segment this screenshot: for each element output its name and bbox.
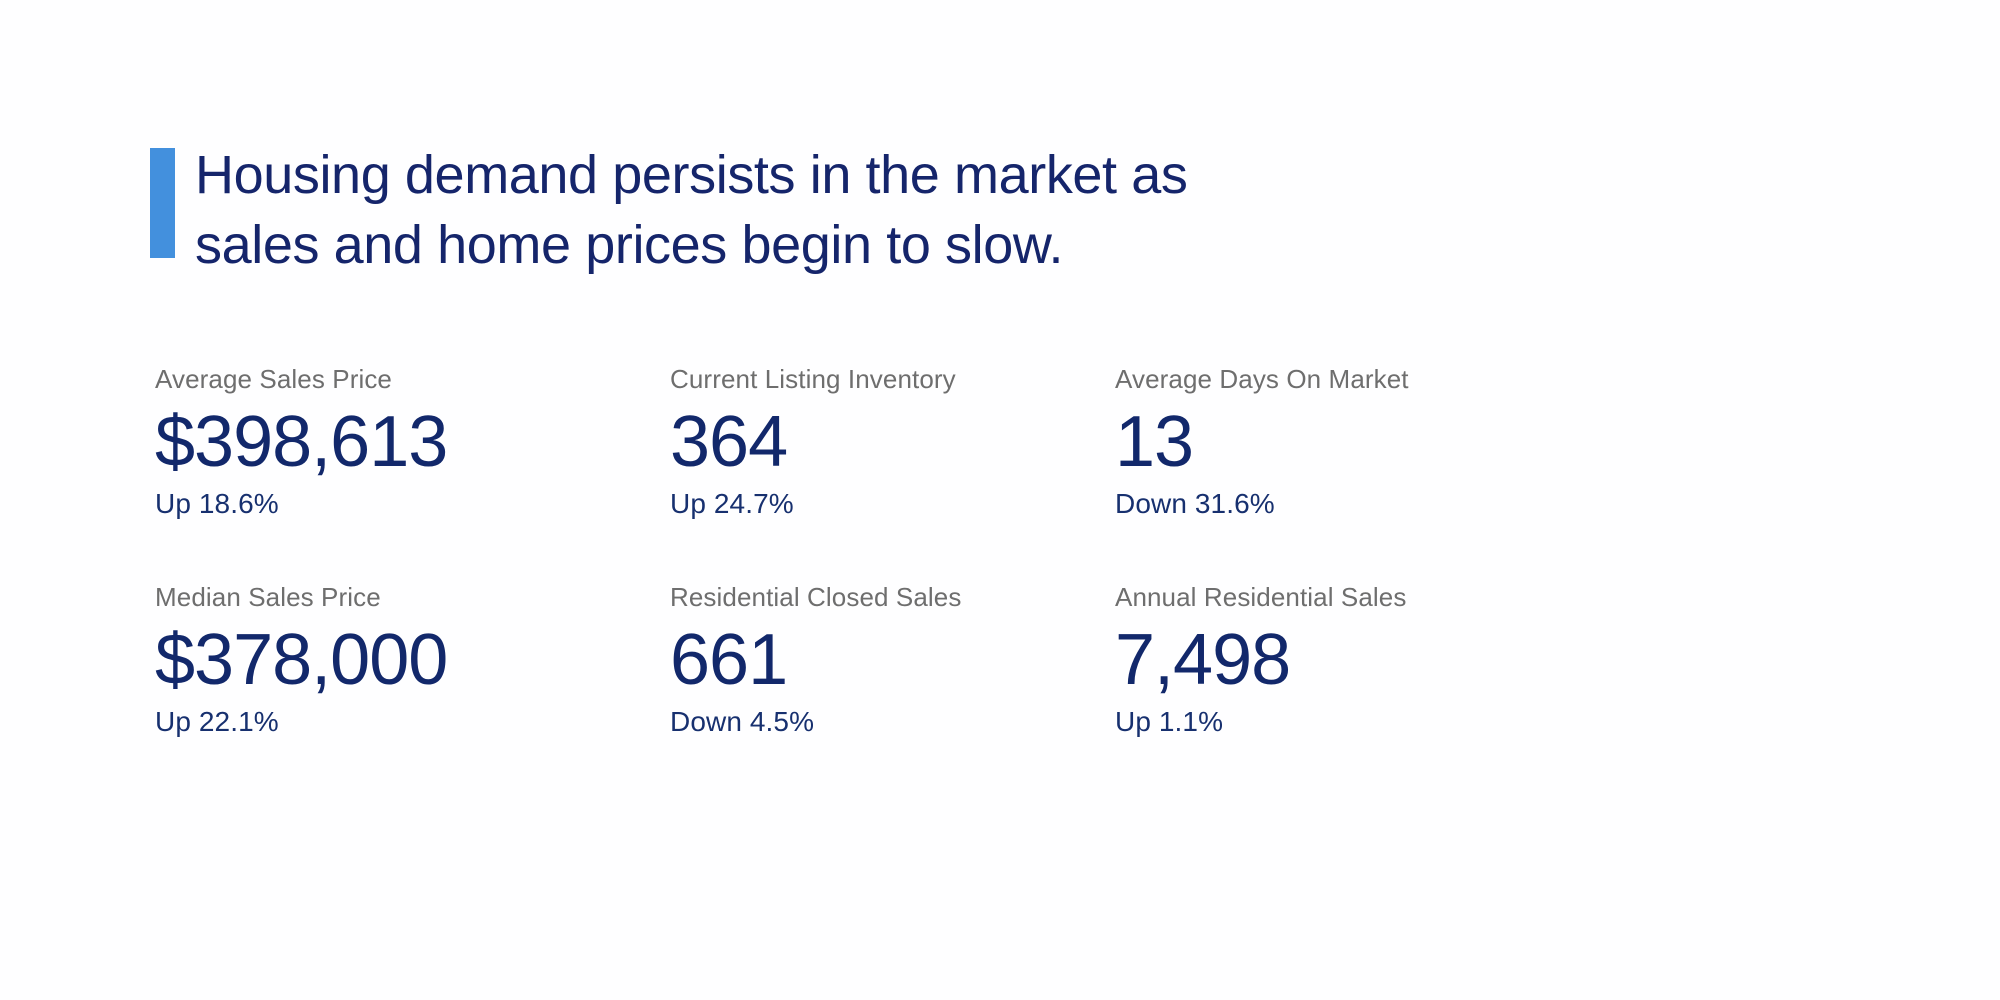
headline-title: Housing demand persists in the market as… [195,140,1188,280]
stat-card-average-sales-price: Average Sales Price $398,613 Up 18.6% [155,365,670,519]
stat-change: Up 1.1% [1115,707,1560,738]
stat-card-residential-closed-sales: Residential Closed Sales 661 Down 4.5% [670,583,1115,737]
stat-card-current-listing-inventory: Current Listing Inventory 364 Up 24.7% [670,365,1115,519]
accent-bar [150,148,175,258]
stat-change: Up 22.1% [155,707,670,738]
headline-block: Housing demand persists in the market as… [150,140,1188,280]
stat-label: Average Days On Market [1115,365,1560,394]
stat-label: Residential Closed Sales [670,583,1115,612]
stat-change: Down 31.6% [1115,489,1560,520]
stat-value: 364 [670,400,1115,485]
stat-label: Annual Residential Sales [1115,583,1560,612]
stats-grid: Average Sales Price $398,613 Up 18.6% Cu… [155,365,1605,738]
stat-card-median-sales-price: Median Sales Price $378,000 Up 22.1% [155,583,670,737]
stat-change: Down 4.5% [670,707,1115,738]
stat-label: Average Sales Price [155,365,670,394]
stat-change: Up 18.6% [155,489,670,520]
stat-label: Current Listing Inventory [670,365,1115,394]
stat-value: $378,000 [155,618,670,703]
stat-change: Up 24.7% [670,489,1115,520]
stat-value: 661 [670,618,1115,703]
stat-value: 7,498 [1115,618,1560,703]
infographic-canvas: Housing demand persists in the market as… [0,0,2000,1000]
stat-label: Median Sales Price [155,583,670,612]
stat-card-average-days-on-market: Average Days On Market 13 Down 31.6% [1115,365,1560,519]
stat-card-annual-residential-sales: Annual Residential Sales 7,498 Up 1.1% [1115,583,1560,737]
stat-value: $398,613 [155,400,670,485]
stat-value: 13 [1115,400,1560,485]
